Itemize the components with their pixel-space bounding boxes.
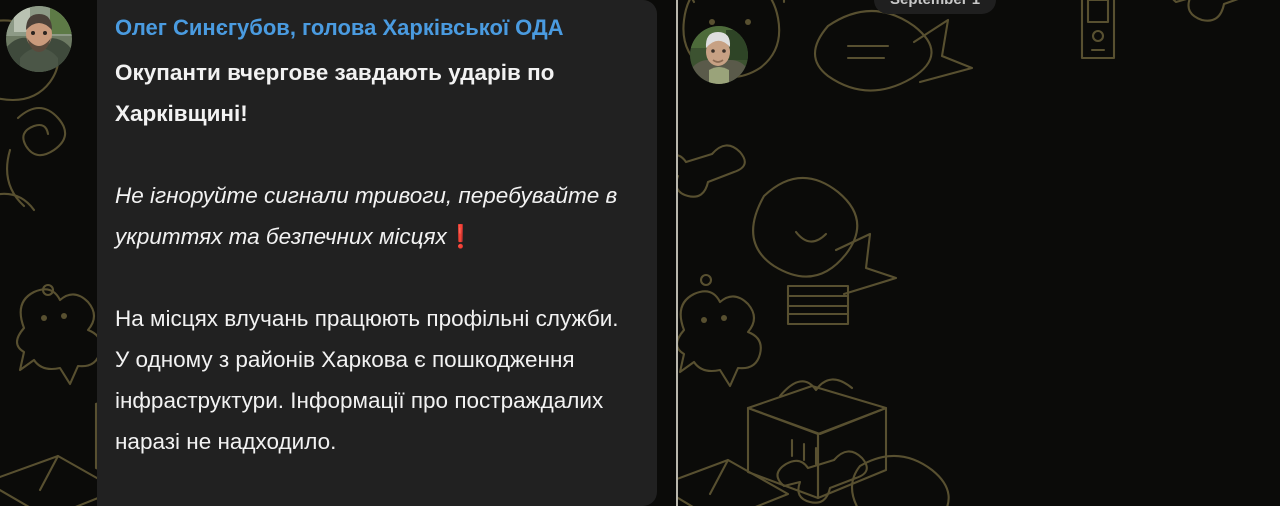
message-paragraph: Не ігноруйте сигнали тривоги, перебувайт…: [115, 175, 639, 257]
chat-panel-right: September 1 Игорь Терехов В половину пер…: [678, 0, 1280, 506]
chat-screenshot-comparison: Олег Синєгубов, голова Харківської ОДА О…: [0, 0, 1280, 506]
exclamation-mark-emoji: ❗: [447, 224, 475, 249]
message-paragraph-text: Не ігноруйте сигнали тривоги, перебувайт…: [115, 183, 617, 249]
message-bubble[interactable]: Олег Синєгубов, голова Харківської ОДА О…: [97, 0, 657, 506]
avatar[interactable]: [6, 6, 72, 72]
chat-panel-left: Олег Синєгубов, голова Харківської ОДА О…: [0, 0, 676, 506]
message-paragraph: Окупанти вчергове завдають ударів по Хар…: [115, 52, 639, 134]
avatar[interactable]: [690, 26, 748, 84]
chat-wallpaper-right: [678, 0, 1280, 506]
date-separator-pill: September 1: [874, 0, 996, 14]
message-paragraph: На місцях влучань працюють профільні слу…: [115, 298, 639, 462]
panel-divider: [676, 0, 678, 506]
message-author[interactable]: Олег Синєгубов, голова Харківської ОДА: [115, 14, 639, 42]
